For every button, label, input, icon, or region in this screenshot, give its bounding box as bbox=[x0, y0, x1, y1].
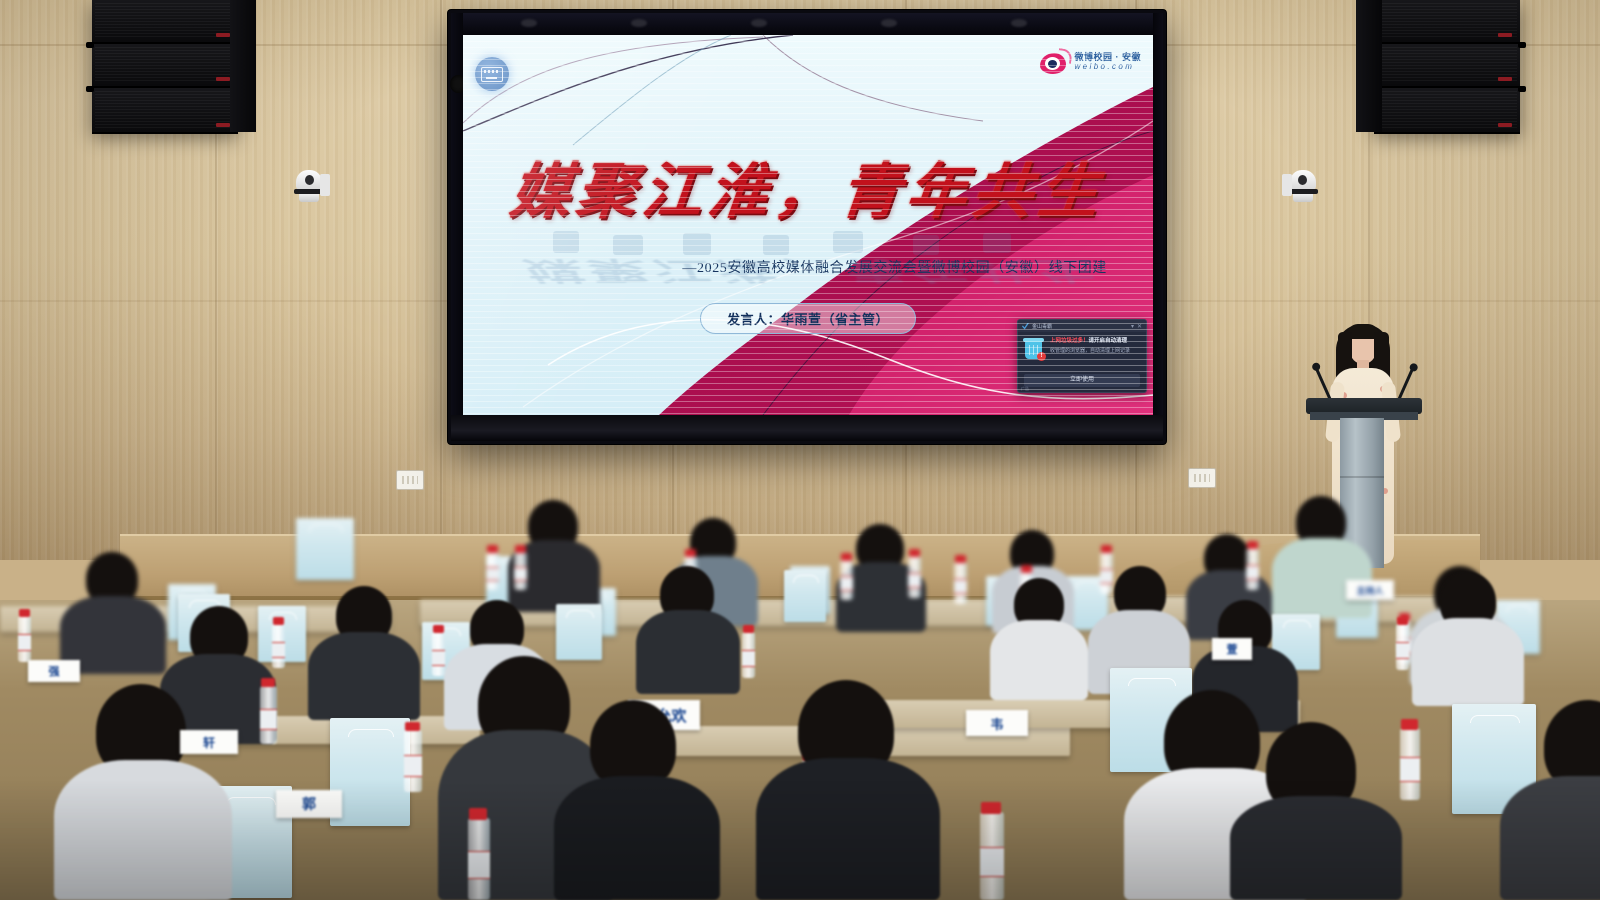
name-card: 韦 bbox=[966, 710, 1028, 736]
popup-ad-label: 广告 bbox=[1021, 386, 1029, 392]
gift-bag bbox=[556, 604, 602, 660]
weibo-logo: 微博校园 · 安徽 weibo.com bbox=[1040, 49, 1142, 75]
wall-mounted-led-screen[interactable]: 微博校园 · 安徽 weibo.com 媒聚江淮，青年共生 媒聚江淮，青年共生 … bbox=[448, 10, 1166, 444]
audience-body bbox=[1272, 538, 1372, 618]
screen-bezel-bottom bbox=[451, 415, 1163, 441]
water-bottle bbox=[1246, 548, 1259, 590]
ptz-camera-left bbox=[292, 170, 334, 204]
gift-bag bbox=[330, 718, 410, 826]
screenshot-root: 微博校园 · 安徽 weibo.com 媒聚江淮，青年共生 媒聚江淮，青年共生 … bbox=[0, 0, 1600, 900]
name-card: 强 bbox=[28, 660, 80, 682]
line-array-speaker-right bbox=[1374, 0, 1520, 132]
weibo-eye-icon bbox=[1040, 49, 1070, 75]
water-bottle bbox=[18, 616, 31, 662]
presentation-slide[interactable]: 微博校园 · 安徽 weibo.com 媒聚江淮，青年共生 媒聚江淮，青年共生 … bbox=[463, 35, 1153, 415]
popup-body-text: 收管理的浏览器，自动清理上网记录 bbox=[1050, 347, 1141, 355]
water-bottle bbox=[742, 632, 755, 678]
audience-body bbox=[308, 632, 420, 720]
name-card: 郭 bbox=[276, 790, 342, 818]
minimize-icon[interactable]: ▾ bbox=[1131, 323, 1134, 330]
ptz-camera-right bbox=[1278, 170, 1320, 204]
water-bottle bbox=[432, 632, 445, 676]
audience-body bbox=[554, 776, 720, 900]
popup-app-title: 金山毒霸 bbox=[1032, 323, 1052, 330]
popup-headline-red: 上网垃圾过多！ bbox=[1050, 338, 1089, 344]
name-card: 轩 bbox=[180, 730, 238, 754]
audience-body bbox=[54, 760, 232, 900]
weibo-brand-line2: weibo.com bbox=[1075, 63, 1142, 71]
trash-bin-icon: ! bbox=[1023, 337, 1045, 361]
antivirus-popup-ad[interactable]: 金山毒霸 ▾ ✕ ! 上网垃圾过多！请开启自动清理 bbox=[1017, 319, 1147, 393]
water-bottle bbox=[1400, 728, 1420, 800]
slide-subtitle: —2025安徽高校媒体融合发展交流会暨微博校园（安徽）线下团建 bbox=[682, 257, 1107, 277]
name-card: 主持人 bbox=[1346, 580, 1394, 600]
wall-outlet-right bbox=[1188, 468, 1216, 488]
close-icon[interactable]: ✕ bbox=[1137, 323, 1142, 330]
water-bottle bbox=[404, 730, 422, 792]
kingsoft-check-icon bbox=[1022, 323, 1029, 330]
water-bottle bbox=[468, 818, 490, 900]
keyboard-icon[interactable] bbox=[475, 57, 509, 91]
water-bottle bbox=[840, 560, 853, 600]
water-bottle bbox=[272, 624, 285, 668]
slide-title: 媒聚江淮，青年共生 bbox=[463, 143, 1153, 230]
audience-body bbox=[1500, 776, 1600, 900]
audience-body bbox=[1230, 796, 1402, 900]
name-card: 萱 bbox=[1212, 638, 1252, 660]
water-bottle bbox=[514, 552, 527, 590]
gift-bag bbox=[296, 518, 354, 580]
popup-alert-badge: ! bbox=[1037, 352, 1046, 361]
audience-body bbox=[636, 610, 740, 694]
slide-speaker-badge: 发言人：华雨萱（省主管） bbox=[700, 303, 916, 334]
audience-body bbox=[756, 758, 940, 900]
audience-body bbox=[990, 620, 1088, 700]
line-array-speaker-left bbox=[92, 0, 238, 132]
water-bottle bbox=[260, 686, 277, 744]
audience-body bbox=[1412, 618, 1524, 706]
popup-titlebar: 金山毒霸 ▾ ✕ bbox=[1018, 320, 1146, 332]
screen-bezel-top bbox=[451, 13, 1163, 35]
gift-bag bbox=[784, 570, 826, 622]
popup-action-button[interactable]: 立即使用 bbox=[1024, 374, 1140, 387]
water-bottle bbox=[486, 552, 499, 590]
water-bottle bbox=[908, 556, 921, 598]
water-bottle bbox=[954, 562, 967, 604]
water-bottle bbox=[1100, 552, 1113, 594]
water-bottle bbox=[980, 812, 1004, 900]
water-bottle bbox=[1396, 624, 1409, 670]
wall-outlet-left bbox=[396, 470, 424, 490]
popup-headline-white: 请开启自动清理 bbox=[1089, 338, 1128, 344]
